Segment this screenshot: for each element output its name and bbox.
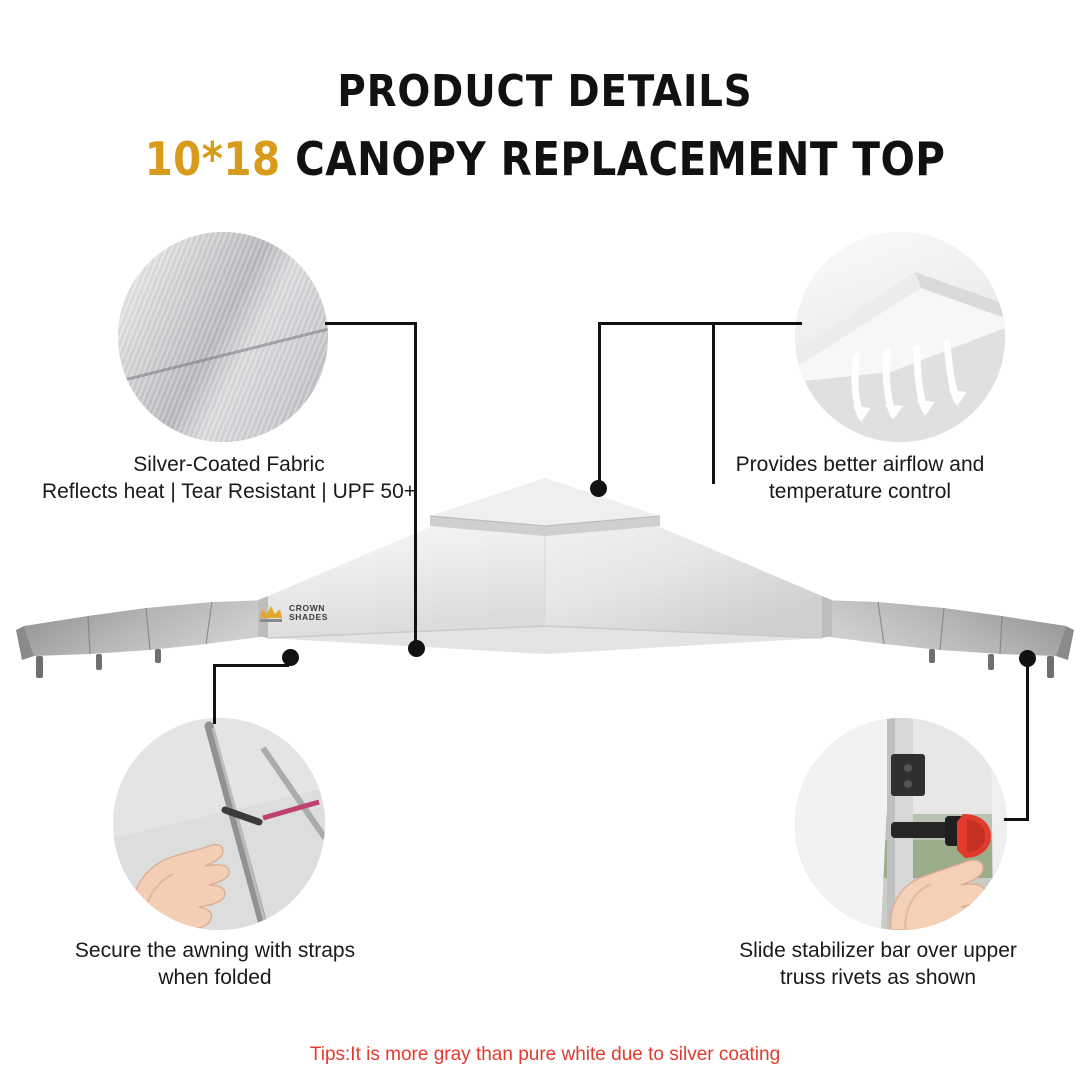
connector-truss-horizontal — [1004, 818, 1029, 821]
callout-airflow-line-1: Provides better airflow and — [700, 452, 1020, 479]
brand-logo-text: CROWN SHADES — [289, 604, 328, 622]
callout-straps: Secure the awning with straps when folde… — [45, 938, 385, 992]
truss-detail-photo — [795, 718, 1007, 930]
fabric-detail-photo — [118, 232, 328, 442]
connector-straps-horizontal — [213, 664, 289, 667]
connector-dot-truss — [1019, 650, 1036, 667]
connector-airflow-horizontal — [712, 322, 802, 325]
connector-straps-vertical — [213, 664, 216, 724]
connector-dot-fabric — [408, 640, 425, 657]
hand-securing-strap-photo — [113, 718, 325, 930]
callout-silver-coated-fabric: Silver-Coated Fabric Reflects heat | Tea… — [14, 452, 444, 506]
connector-airflow-drop — [598, 322, 601, 488]
airflow-arrows-icon — [795, 232, 1005, 442]
subtitle-size: 10*18 — [145, 132, 281, 186]
callout-straps-line-2: when folded — [45, 965, 385, 992]
footer-tips: Tips:It is more gray than pure white due… — [0, 1044, 1090, 1066]
callout-airflow-line-2: temperature control — [700, 479, 1020, 506]
brand-logo: CROWN SHADES — [258, 596, 354, 630]
callout-fabric-line-2: Reflects heat | Tear Resistant | UPF 50+ — [14, 479, 444, 506]
subtitle-text: CANOPY REPLACEMENT TOP — [295, 132, 945, 186]
brand-line-2: SHADES — [289, 613, 328, 622]
callout-straps-line-1: Secure the awning with straps — [45, 938, 385, 965]
product-details-infographic: PRODUCT DETAILS 10*18 CANOPY REPLACEMENT… — [0, 0, 1090, 1090]
crown-icon — [258, 602, 284, 624]
callout-truss-line-1: Slide stabilizer bar over upper — [718, 938, 1038, 965]
connector-airflow-lower — [598, 322, 714, 325]
callout-airflow: Provides better airflow and temperature … — [700, 452, 1020, 506]
callout-fabric-line-1: Silver-Coated Fabric — [14, 452, 444, 479]
connector-truss-vertical — [1026, 662, 1029, 820]
straps-detail-photo — [113, 718, 325, 930]
airflow-detail-photo — [795, 232, 1005, 442]
callout-truss: Slide stabilizer bar over upper truss ri… — [718, 938, 1038, 992]
connector-fabric-horizontal — [325, 322, 417, 325]
page-subtitle: 10*18 CANOPY REPLACEMENT TOP — [65, 132, 1024, 186]
connector-dot-straps — [282, 649, 299, 666]
hand-sliding-stabilizer-bar-photo — [795, 718, 1007, 930]
callout-truss-line-2: truss rivets as shown — [718, 965, 1038, 992]
page-title: PRODUCT DETAILS — [65, 66, 1024, 117]
